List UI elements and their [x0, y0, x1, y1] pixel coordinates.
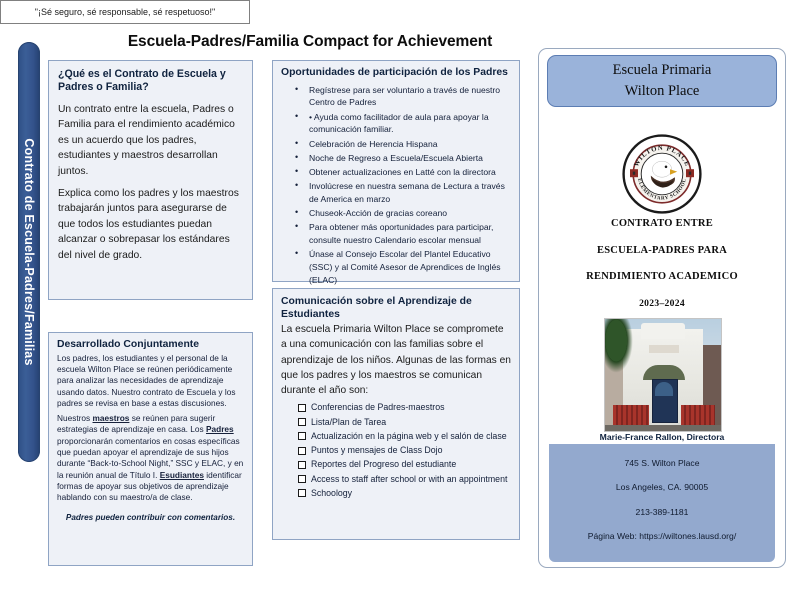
- photo-building-sign: [649, 345, 679, 353]
- dj-em-maestros: maestros: [93, 413, 130, 423]
- communication-checklist: Conferencias de Padres-maestros Lista/Pl…: [281, 401, 511, 499]
- dj-em-estudiantes: Esudiantes: [160, 470, 204, 480]
- communication-heading: Comunicación sobre el Aprendizaje de Est…: [281, 295, 511, 321]
- what-is-paragraph-1: Un contrato entre la escuela, Padres o F…: [58, 102, 243, 179]
- list-item: • Ayuda como facilitador de aula para ap…: [307, 111, 509, 136]
- communication-lead: La escuela Primaria Wilton Place se comp…: [281, 322, 511, 398]
- spine-label: Contrato de Escuela-Padres/Familias: [22, 138, 36, 365]
- principal-name: Marie-France Rallon, Directora: [545, 432, 779, 442]
- list-item: Lista/Plan de Tarea: [311, 416, 509, 429]
- developed-jointly-paragraph-1: Los padres, los estudiantes y el persona…: [57, 353, 244, 409]
- panel-what-is-compact: ¿Qué es el Contrato de Escuela y Padres …: [48, 60, 253, 300]
- phone-number: 213-389-1181: [549, 507, 775, 517]
- list-item: Involúcrese en nuestra semana de Lectura…: [307, 180, 509, 205]
- dj-em-padres: Padres: [206, 424, 234, 434]
- dj-p2-seg1: Nuestros: [57, 413, 93, 423]
- photo-entry-awning: [643, 365, 685, 380]
- list-item: Puntos y mensajes de Class Dojo: [311, 444, 509, 457]
- list-item: Noche de Regreso a Escuela/Escuela Abier…: [307, 152, 509, 165]
- list-item: Celebración de Herencia Hispana: [307, 138, 509, 151]
- list-item: Access to staff after school or with an …: [311, 473, 509, 486]
- list-item: Regístrese para ser voluntario a través …: [307, 84, 509, 109]
- list-item: Schoology: [311, 487, 509, 500]
- vertical-spine-banner: Contrato de Escuela-Padres/Familias: [18, 42, 40, 462]
- address-line-2: Los Angeles, CA. 90005: [549, 482, 775, 492]
- contract-line-2: ESCUELA-PADRES PARA: [545, 245, 779, 256]
- opportunities-list: Regístrese para ser voluntario a través …: [281, 84, 511, 287]
- developed-jointly-heading: Desarrollado Conjuntamente: [57, 339, 244, 352]
- list-item: Actualización en la página web y el saló…: [311, 430, 509, 443]
- school-name-line-2: Wilton Place: [625, 81, 700, 102]
- page-title: Escuela-Padres/Familia Compact for Achie…: [100, 33, 520, 51]
- list-item: Para obtener más oportunidades para part…: [307, 221, 509, 246]
- developed-jointly-footer: Padres pueden contribuir con comentarios…: [57, 513, 244, 522]
- panel-school-motto: "¡Sé seguro, sé responsable, sé respetuo…: [0, 0, 250, 24]
- list-item: Reportes del Progreso del estudiante: [311, 458, 509, 471]
- contract-line-3: RENDIMIENTO ACADEMICO: [545, 271, 779, 282]
- school-crest-logo: WILTON PLACE ELEMENTARY SCHOOL: [622, 134, 702, 214]
- photo-ground: [605, 425, 721, 431]
- what-is-heading: ¿Qué es el Contrato de Escuela y Padres …: [58, 68, 243, 94]
- photo-fence-left: [613, 405, 649, 427]
- list-item: Obtener actualizaciones en Latté con la …: [307, 166, 509, 179]
- opportunities-heading: Oportunidades de participación de los Pa…: [281, 67, 511, 80]
- contract-school-year: 2023–2024: [545, 298, 779, 309]
- website-url[interactable]: Página Web: https://wiltones.lausd.org/: [549, 531, 775, 541]
- list-item: Chuseok-Acción de gracias coreano: [307, 207, 509, 220]
- contract-heading-block: CONTRATO ENTRE ESCUELA-PADRES PARA RENDI…: [545, 218, 779, 309]
- contract-line-1: CONTRATO ENTRE: [545, 218, 779, 229]
- motto-text: "¡Sé seguro, sé responsable, sé respetuo…: [35, 7, 216, 17]
- photo-fence-right: [681, 405, 715, 427]
- school-building-photo: [604, 318, 722, 432]
- what-is-paragraph-2: Explica como los padres y los maestros t…: [58, 186, 243, 263]
- list-item: Únase al Consejo Escolar del Plantel Edu…: [307, 248, 509, 286]
- list-item: Conferencias de Padres-maestros: [311, 401, 509, 414]
- photo-door-transom: [655, 382, 673, 396]
- panel-developed-jointly: Desarrollado Conjuntamente Los padres, l…: [48, 332, 253, 566]
- photo-tree: [605, 319, 633, 373]
- school-contact-block: 745 S. Wilton Place Los Angeles, CA. 900…: [549, 444, 775, 562]
- panel-student-learning-communication: Comunicación sobre el Aprendizaje de Est…: [272, 288, 520, 540]
- school-name-line-1: Escuela Primaria: [613, 60, 712, 81]
- developed-jointly-paragraph-2: Nuestros maestros se reúnen para sugerir…: [57, 413, 244, 503]
- school-name-box: Escuela Primaria Wilton Place: [547, 55, 777, 107]
- brochure-page: Contrato de Escuela-Padres/Familias Escu…: [0, 0, 792, 612]
- address-line-1: 745 S. Wilton Place: [549, 458, 775, 468]
- panel-parent-opportunities: Oportunidades de participación de los Pa…: [272, 60, 520, 282]
